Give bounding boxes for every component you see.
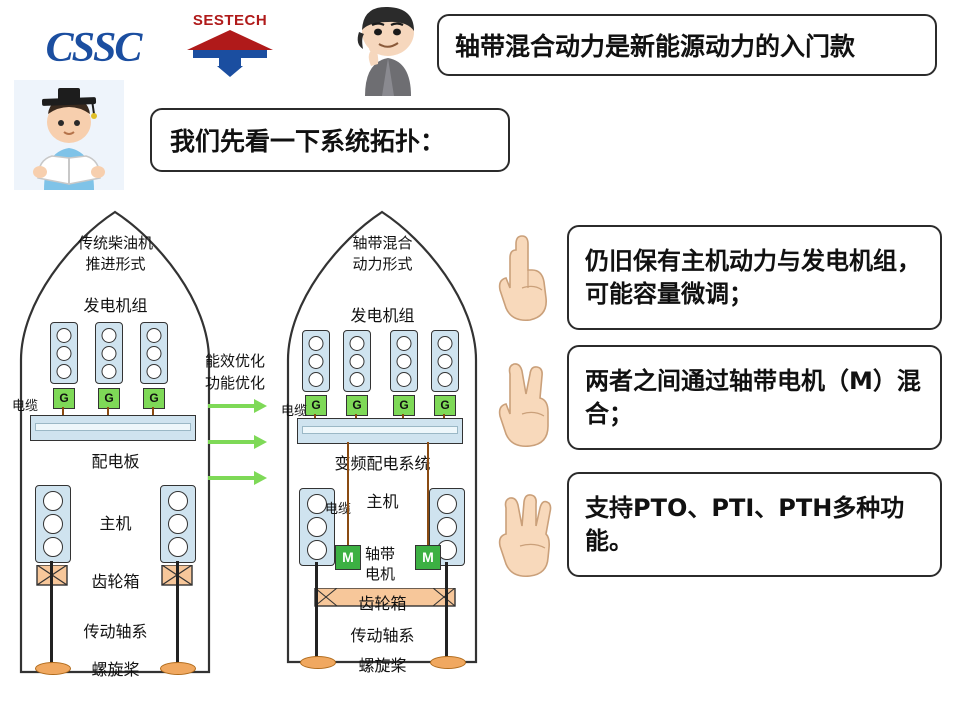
sestech-logo: SESTECH (175, 12, 285, 84)
ship-left-propeller-label: 螺旋桨 (8, 656, 223, 680)
switchboard (30, 415, 196, 441)
ship-right-title-line2: 动力形式 (275, 253, 490, 274)
ship-right-shaft-label: 传动轴系 (275, 622, 490, 646)
hand-one-finger-icon (492, 232, 554, 324)
ship-left-title-line2: 推进形式 (8, 253, 223, 274)
genset-2 (343, 330, 371, 392)
shaft-line-2 (445, 562, 448, 662)
arrow-2-head (254, 435, 267, 449)
generator-2: G (346, 395, 368, 416)
generator-4: G (434, 395, 456, 416)
ship-left-genset-label: 发电机组 (8, 292, 223, 316)
ship-left-shaft-label: 传动轴系 (8, 618, 223, 642)
hand-three-fingers-icon (492, 488, 554, 580)
generator-3: G (393, 395, 415, 416)
ship-right-title-line1: 轴带混合 (275, 232, 490, 253)
ship-left-engine-label: 主机 (8, 510, 223, 534)
ship-left-gearbox-label: 齿轮箱 (8, 568, 223, 592)
arrow-3-head (254, 471, 267, 485)
ship-left-diagram: 传统柴油机 推进形式 发电机组 G G G 电缆 配电板 主机 齿轮箱 传动轴系… (8, 210, 223, 690)
shaft-line-1 (315, 562, 318, 662)
generator-2: G (98, 388, 120, 409)
motor-cable-1 (347, 442, 349, 545)
motor-cable-2 (427, 442, 429, 545)
genset-4 (431, 330, 459, 392)
student-avatar (14, 80, 124, 190)
arrow-label-1: 能效优化 (205, 350, 265, 371)
genset-1 (302, 330, 330, 392)
point-1-callout: 仍旧保有主机动力与发电机组，可能容量微调； (567, 225, 942, 330)
point-3-text: 支持PTO、PTI、PTH多种功能。 (585, 492, 924, 557)
sestech-logo-mark (187, 30, 273, 76)
shaft-motor-1: M (335, 545, 361, 570)
ship-right-switchboard-label: 变频配电系统 (275, 450, 490, 474)
hand-two-fingers-icon (492, 358, 554, 450)
frequency-switchboard (297, 418, 463, 444)
ship-right-diagram: 轴带混合 动力形式 发电机组 G G G G 电缆 变频配电系统 主机 电缆 M… (275, 210, 490, 690)
transition-arrows: 能效优化 功能优化 (200, 350, 285, 500)
title-callout-text: 轴带混合动力是新能源动力的入门款 (455, 27, 855, 63)
shaft-line-2 (176, 561, 179, 666)
ship-left-title-line1: 传统柴油机 (8, 232, 223, 253)
ship-right-genset-label: 发电机组 (275, 302, 490, 326)
sestech-logo-text: SESTECH (175, 12, 285, 29)
point-3-callout: 支持PTO、PTI、PTH多种功能。 (567, 472, 942, 577)
point-1-text: 仍旧保有主机动力与发电机组，可能容量微调； (585, 245, 924, 310)
point-2-callout: 两者之间通过轴带电机（M）混合； (567, 345, 942, 450)
title-callout: 轴带混合动力是新能源动力的入门款 (437, 14, 937, 76)
arrow-1-line (208, 404, 256, 408)
topology-callout-text: 我们先看一下系统拓扑： (170, 122, 445, 158)
generator-1: G (305, 395, 327, 416)
shaft-line-1 (50, 561, 53, 666)
ship-right-propeller-label: 螺旋桨 (275, 652, 490, 676)
point-2-text: 两者之间通过轴带电机（M）混合； (585, 365, 924, 430)
arrow-label-2: 功能优化 (205, 372, 265, 393)
cssc-logo-text: CSSC (46, 24, 141, 72)
teacher-avatar (345, 4, 431, 96)
arrow-3-line (208, 476, 256, 480)
ship-right-cable-label: 电缆 (281, 400, 307, 419)
genset-3 (390, 330, 418, 392)
generator-1: G (53, 388, 75, 409)
genset-2 (95, 322, 123, 384)
topology-callout: 我们先看一下系统拓扑： (150, 108, 510, 172)
genset-1 (50, 322, 78, 384)
ship-right-engine-label: 主机 (275, 488, 490, 512)
ship-right-motor-label-2: 电机 (365, 563, 395, 584)
cssc-logo: CSSC (18, 20, 168, 76)
generator-3: G (143, 388, 165, 409)
arrow-1-head (254, 399, 267, 413)
shaft-motor-2: M (415, 545, 441, 570)
genset-3 (140, 322, 168, 384)
ship-right-motor-label-1: 轴带 (365, 543, 395, 564)
ship-right-gearbox-label: 齿轮箱 (275, 590, 490, 614)
ship-left-switchboard-label: 配电板 (8, 448, 223, 472)
ship-left-cable-label: 电缆 (12, 395, 38, 414)
arrow-2-line (208, 440, 256, 444)
